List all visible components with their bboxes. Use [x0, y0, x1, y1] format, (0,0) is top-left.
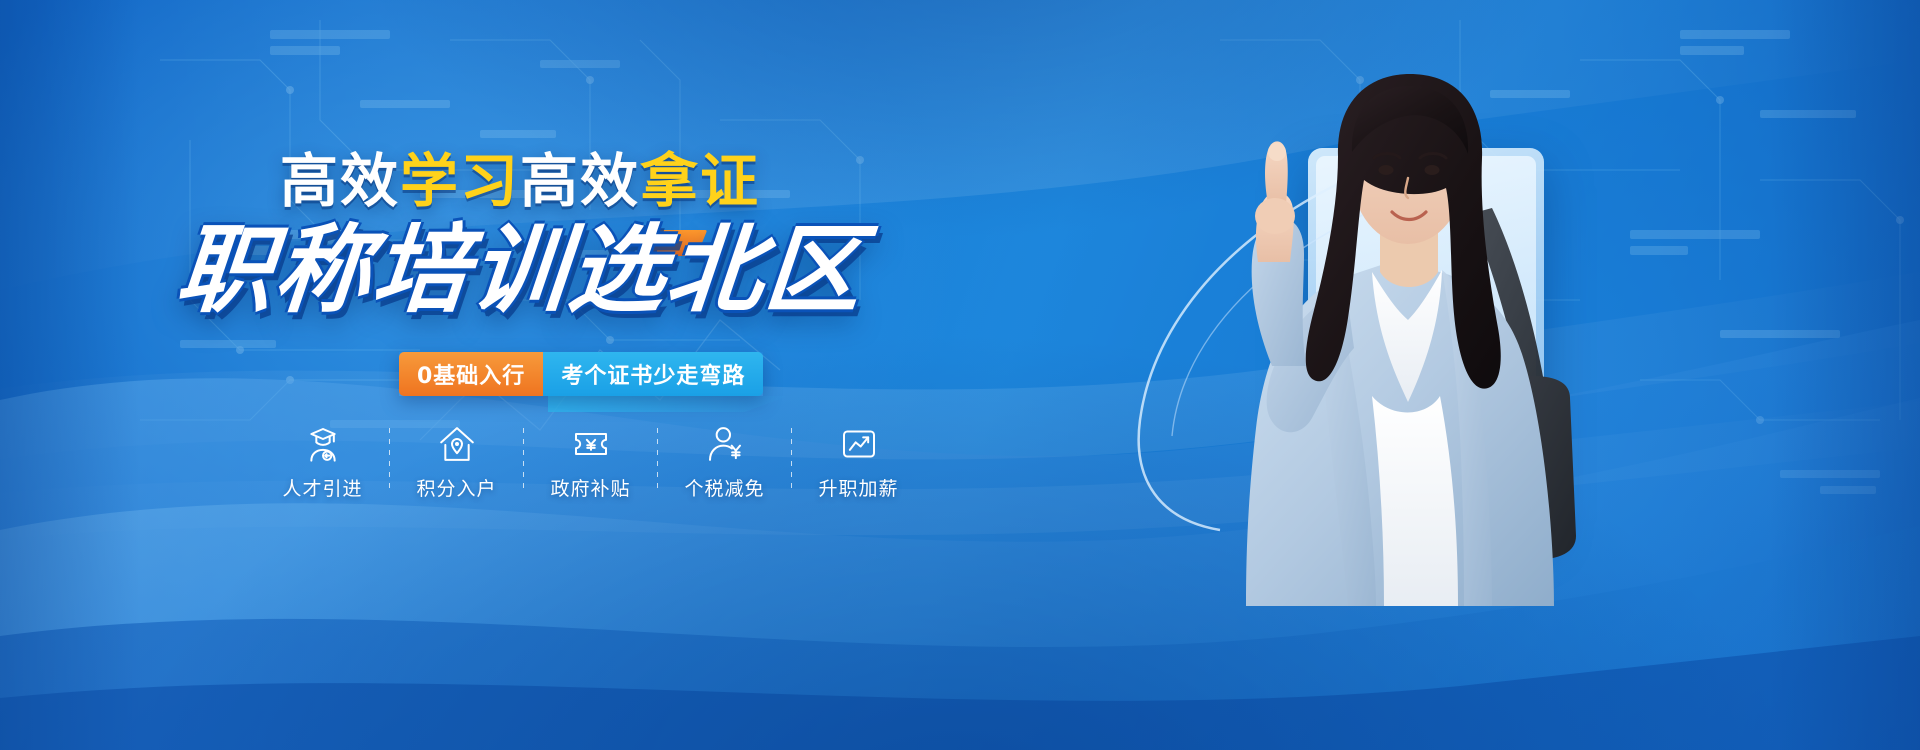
feature-label: 个税减免 [684, 474, 764, 501]
graduate-person-icon [303, 424, 343, 464]
tagline-badge[interactable]: 0基础入行 考个证书少走弯路 [399, 352, 763, 396]
feature-item-geshuijianmian[interactable]: 个税减免 [658, 424, 791, 501]
headline-secondary-highlight1: 学习 [400, 147, 520, 215]
person-yuan-icon [705, 424, 745, 464]
promo-banner: 高效学习高效拿证 职称培训选北区 0基础入行 考个证书少走弯路 [0, 0, 1920, 750]
feature-label: 升职加薪 [818, 474, 898, 501]
hero-visual [1020, 0, 1920, 750]
banner-content: 高效学习高效拿证 职称培训选北区 0基础入行 考个证书少走弯路 [0, 0, 1060, 750]
badge-left-label: 0基础入行 [399, 352, 543, 396]
headline-primary: 职称培训选北区 [0, 222, 1044, 318]
feature-item-shengzhijiaxin[interactable]: 升职加薪 [792, 424, 925, 501]
ticket-yuan-icon [571, 424, 611, 464]
chart-growth-icon [839, 424, 879, 464]
headline-secondary-part1: 高效 [280, 147, 400, 215]
headline-secondary-part3: 高效 [520, 147, 640, 215]
feature-item-rencaiyinjin[interactable]: 人才引进 [256, 424, 389, 501]
badge-right-label: 考个证书少走弯路 [543, 352, 763, 396]
feature-label: 政府补贴 [550, 474, 630, 501]
feature-list: 人才引进 积分入户 [256, 424, 956, 514]
feature-item-zhengfubutie[interactable]: 政府补贴 [524, 424, 657, 501]
person-photo [1140, 66, 1700, 606]
feature-label: 人才引进 [282, 474, 362, 501]
feature-label: 积分入户 [416, 474, 496, 501]
house-location-pin-icon [437, 424, 477, 464]
badge-shadow-tail [548, 396, 788, 412]
feature-item-jifenruhu[interactable]: 积分入户 [390, 424, 523, 501]
headline-secondary: 高效学习高效拿证 [0, 152, 1040, 210]
headline-secondary-highlight2: 拿证 [640, 147, 760, 215]
